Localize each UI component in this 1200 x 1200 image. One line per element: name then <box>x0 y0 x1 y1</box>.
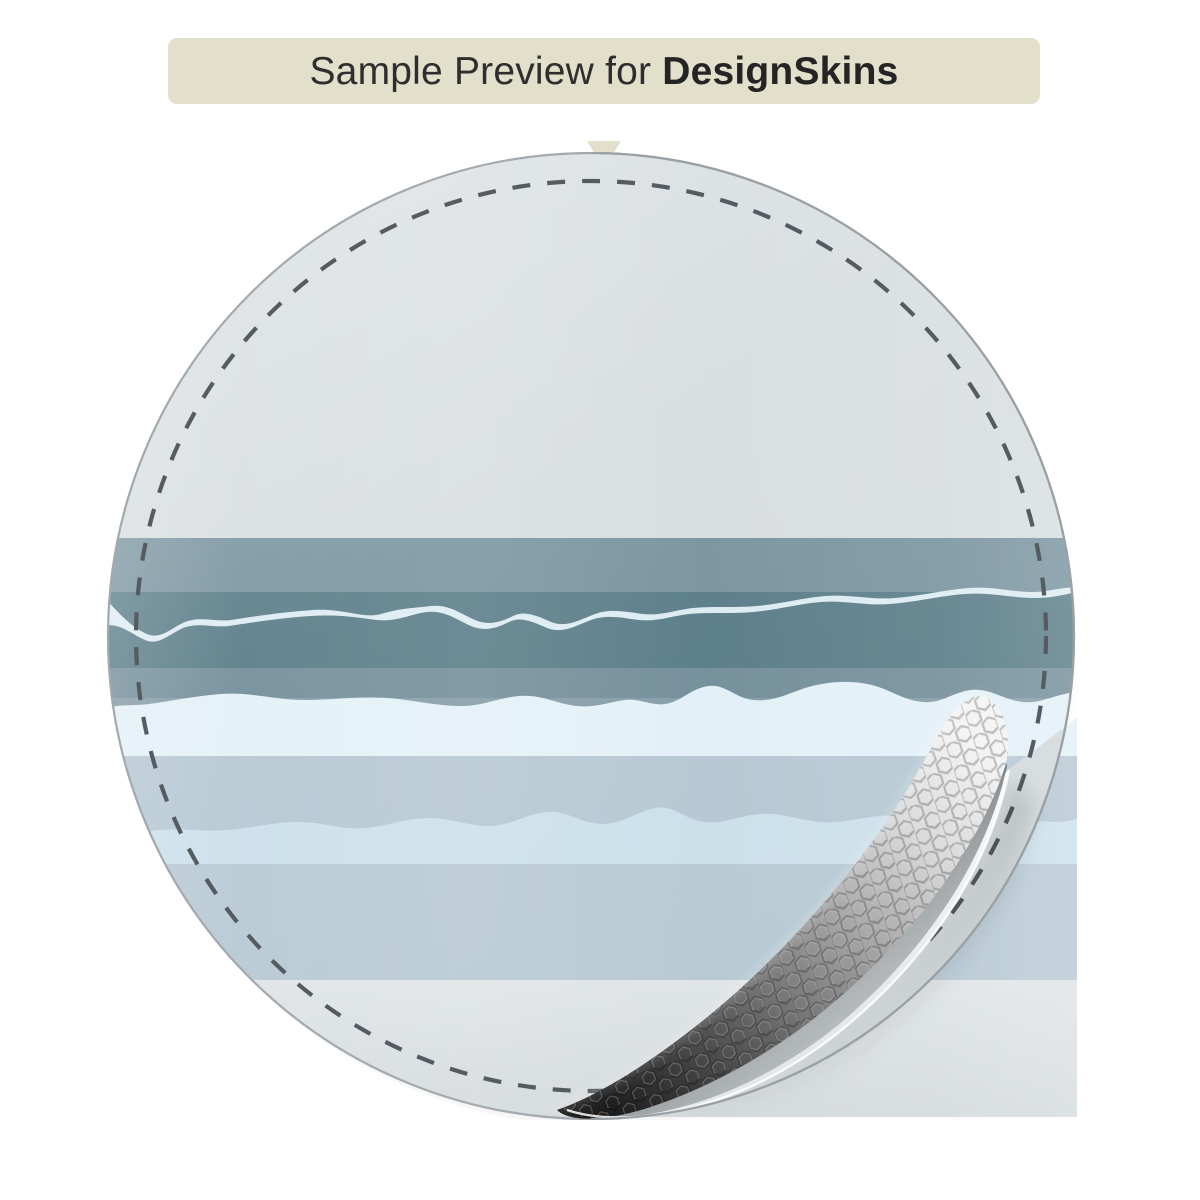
banner-title-normal: Sample Preview for <box>309 50 662 93</box>
banner-body: Sample Preview for DesignSkins <box>168 38 1040 104</box>
banner-title-brand: DesignSkins <box>662 50 898 93</box>
banner-title: Sample Preview for DesignSkins <box>309 52 898 91</box>
sticker-svg <box>105 152 1077 1120</box>
preview-banner: Sample Preview for DesignSkins <box>168 38 1040 104</box>
sticker-preview[interactable] <box>105 152 1077 1120</box>
preview-canvas: Sample Preview for DesignSkins <box>0 0 1200 1200</box>
